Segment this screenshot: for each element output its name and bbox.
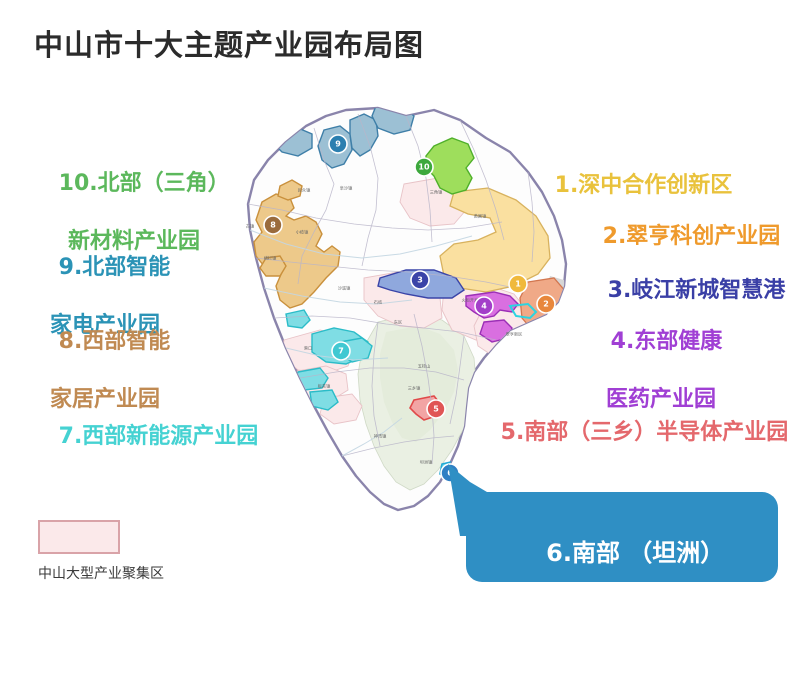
svg-text:民众镇: 民众镇 (298, 187, 311, 194)
callout-6-line2: 高端显示产业园 (526, 602, 724, 635)
callout-6-line1: 6.南部 （坦洲） (546, 539, 724, 567)
svg-text:阜沙镇: 阜沙镇 (340, 185, 353, 192)
map-marker-8[interactable]: 8 (264, 216, 282, 234)
svg-text:2: 2 (543, 300, 549, 309)
legend-label: 中山大型产业聚集区 (38, 563, 164, 583)
callout-8-line1: 8.西部智能 (59, 329, 171, 354)
callout-box-6-text: 6.南部 （坦洲） 高端显示产业园 (496, 504, 724, 700)
svg-text:港口: 港口 (304, 345, 312, 352)
legend: 中山大型产业聚集区 (38, 520, 164, 583)
callout-9-line1: 9.北部智能 (59, 255, 171, 280)
svg-text:小榄镇: 小榄镇 (296, 229, 309, 236)
svg-text:五桂山: 五桂山 (418, 363, 431, 370)
map-marker-1[interactable]: 1 (509, 275, 527, 293)
svg-text:三乡镇: 三乡镇 (408, 385, 421, 392)
map-marker-2[interactable]: 2 (537, 295, 555, 313)
svg-text:10: 10 (418, 163, 430, 172)
callout-2-line1: 2.翠亨科创产业园 (603, 224, 781, 249)
map-marker-4[interactable]: 4 (475, 297, 493, 315)
poster-root: 中山市十大主题产业园布局图 (0, 0, 800, 645)
map-marker-3[interactable]: 3 (411, 271, 429, 289)
svg-text:神湾镇: 神湾镇 (374, 433, 387, 440)
svg-text:9: 9 (335, 140, 341, 149)
svg-text:黄圃镇: 黄圃镇 (474, 213, 487, 220)
svg-text:4: 4 (481, 302, 487, 311)
svg-text:石岐: 石岐 (374, 299, 383, 306)
callout-box-6[interactable]: 6.南部 （坦洲） 高端显示产业园 (466, 492, 778, 582)
callout-7-line1: 7.西部新能源产业园 (59, 424, 259, 449)
svg-text:1: 1 (515, 280, 521, 289)
svg-text:三角镇: 三角镇 (430, 189, 443, 196)
legend-swatch-industrial-cluster (38, 520, 120, 554)
callout-label-7[interactable]: 7.西部新能源产业园 (28, 393, 258, 480)
svg-text:3: 3 (417, 276, 423, 285)
svg-text:古镇: 古镇 (246, 223, 254, 230)
map-marker-10[interactable]: 10 (415, 158, 433, 176)
svg-text:横栏镇: 横栏镇 (264, 255, 277, 262)
callout-label-5[interactable]: 5.南部（三乡）半导体产业园 (470, 389, 788, 476)
page-title: 中山市十大主题产业园布局图 (34, 22, 424, 64)
svg-text:8: 8 (270, 221, 276, 230)
svg-text:板芙镇: 板芙镇 (318, 383, 331, 390)
map-marker-9[interactable]: 9 (329, 135, 347, 153)
svg-text:东区: 东区 (394, 319, 402, 325)
svg-text:翠亨新区: 翠亨新区 (506, 331, 523, 338)
svg-text:沙溪镇: 沙溪镇 (338, 285, 351, 292)
callout-4-line1: 4.东部健康 (611, 329, 723, 354)
callout-5-line1: 5.南部（三乡）半导体产业园 (501, 420, 789, 445)
svg-text:5: 5 (433, 405, 439, 414)
callout-10-line1: 10.北部（三角） (59, 171, 230, 196)
map-marker-7[interactable]: 7 (332, 342, 350, 360)
svg-text:7: 7 (338, 347, 344, 356)
map-marker-5[interactable]: 5 (427, 400, 445, 418)
